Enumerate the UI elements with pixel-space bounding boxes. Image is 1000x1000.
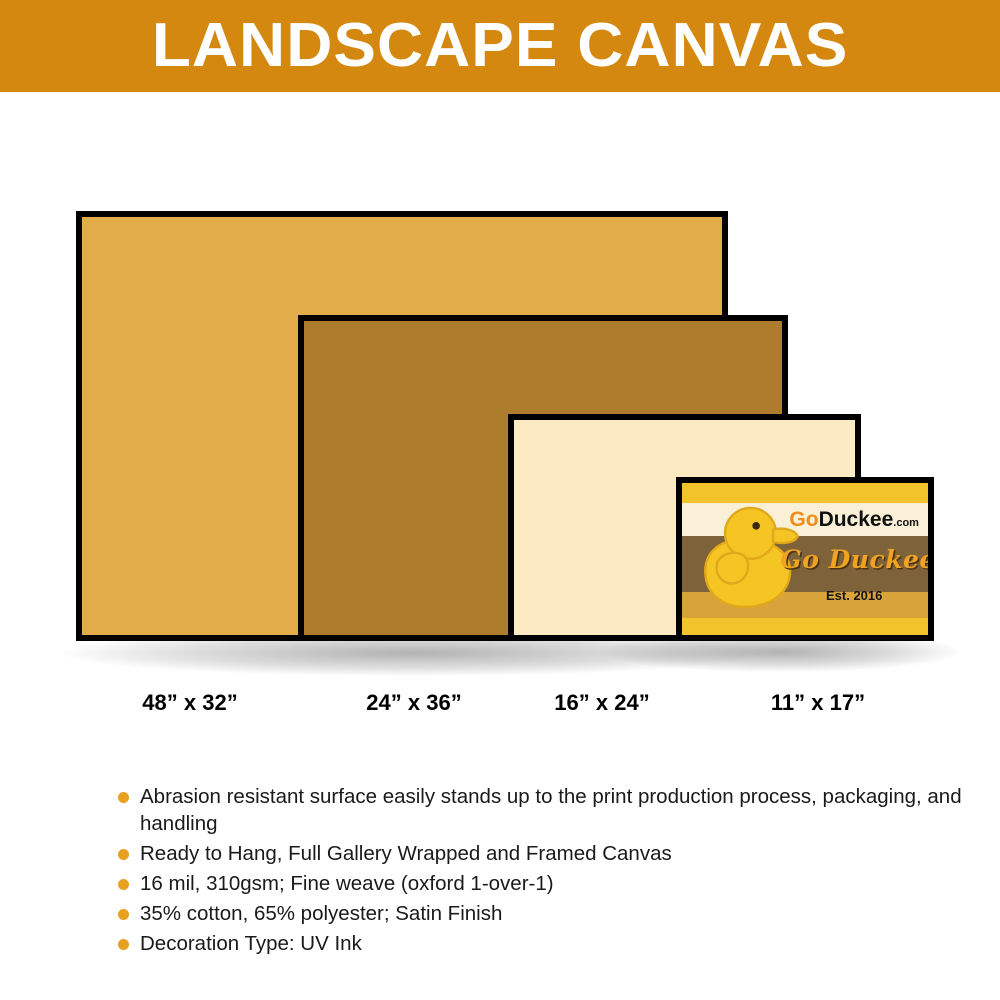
size-label-11x17: 11” x 17” [713, 690, 923, 716]
logo-text-block: GoDuckee.com Go Duckee Est. 2016 [780, 483, 928, 635]
header-bar: LANDSCAPE CANVAS [0, 0, 1000, 92]
canvas-size-diagram: GoDuckee.com Go Duckee Est. 2016 [0, 92, 1000, 692]
canvas-swatch-11x17[interactable]: GoDuckee.com Go Duckee Est. 2016 [676, 477, 934, 641]
size-label-48x32: 48” x 32” [85, 690, 295, 716]
size-label-row: 48” x 32” 24” x 36” 16” x 24” 11” x 17” [0, 690, 1000, 730]
list-item: Abrasion resistant surface easily stands… [110, 783, 970, 837]
brand-script-name: Go Duckee [780, 547, 928, 572]
brand-wordmark: GoDuckee.com [780, 509, 928, 530]
list-item: Decoration Type: UV Ink [110, 930, 970, 957]
brand-duckee: Duckee [819, 508, 894, 531]
list-item: 16 mil, 310gsm; Fine weave (oxford 1-ove… [110, 870, 970, 897]
size-label-16x24: 16” x 24” [497, 690, 707, 716]
list-item: Ready to Hang, Full Gallery Wrapped and … [110, 840, 970, 867]
list-item: 35% cotton, 65% polyester; Satin Finish [110, 900, 970, 927]
goduckee-logo: GoDuckee.com Go Duckee Est. 2016 [682, 483, 928, 635]
established-text: Est. 2016 [780, 589, 928, 602]
size-label-24x36: 24” x 36” [309, 690, 519, 716]
page-title: LANDSCAPE CANVAS [152, 15, 849, 77]
feature-list: Abrasion resistant surface easily stands… [110, 783, 970, 960]
brand-dotcom: .com [893, 517, 919, 529]
brand-go: Go [789, 508, 818, 531]
